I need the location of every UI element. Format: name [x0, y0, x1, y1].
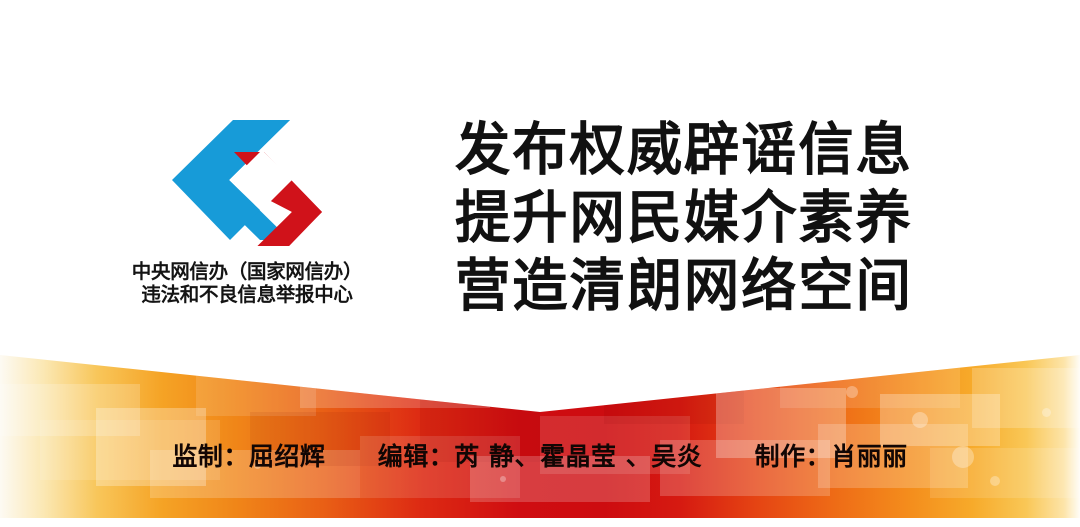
credit-producer: 监制：屈绍辉: [172, 440, 325, 474]
cac-report-center-logo-icon: [172, 118, 322, 246]
headline-line-1: 发布权威辟谣信息: [455, 116, 940, 184]
logo-caption-line-1: 中央网信办（国家网信办）: [92, 260, 402, 283]
credit-editors: 编辑：芮 静、霍晶莹 、吴炎: [378, 440, 702, 474]
credits-line: 监制：屈绍辉 编辑：芮 静、霍晶莹 、吴炎 制作：肖丽丽: [0, 440, 1080, 474]
poster-root: 中央网信办（国家网信办） 违法和不良信息举报中心 发布权威辟谣信息 提升网民媒介…: [0, 0, 1080, 527]
headline-line-2: 提升网民媒介素养: [455, 184, 940, 252]
logo-caption-line-2: 违法和不良信息举报中心: [92, 283, 402, 306]
bottom-gradient-band: [0, 350, 1080, 522]
band-gradient-fill: [0, 350, 1080, 522]
headline-slogan: 发布权威辟谣信息 提升网民媒介素养 营造清朗网络空间: [455, 116, 955, 320]
top-white-area: 中央网信办（国家网信办） 违法和不良信息举报中心 发布权威辟谣信息 提升网民媒介…: [0, 0, 1080, 356]
headline-line-3: 营造清朗网络空间: [455, 252, 940, 320]
organization-logo-block: 中央网信办（国家网信办） 违法和不良信息举报中心: [92, 118, 402, 323]
credit-designer: 制作：肖丽丽: [755, 440, 908, 474]
logo-caption: 中央网信办（国家网信办） 违法和不良信息举报中心: [92, 260, 402, 306]
bottom-white-strip: [0, 519, 1080, 527]
band-dot: [306, 378, 311, 383]
